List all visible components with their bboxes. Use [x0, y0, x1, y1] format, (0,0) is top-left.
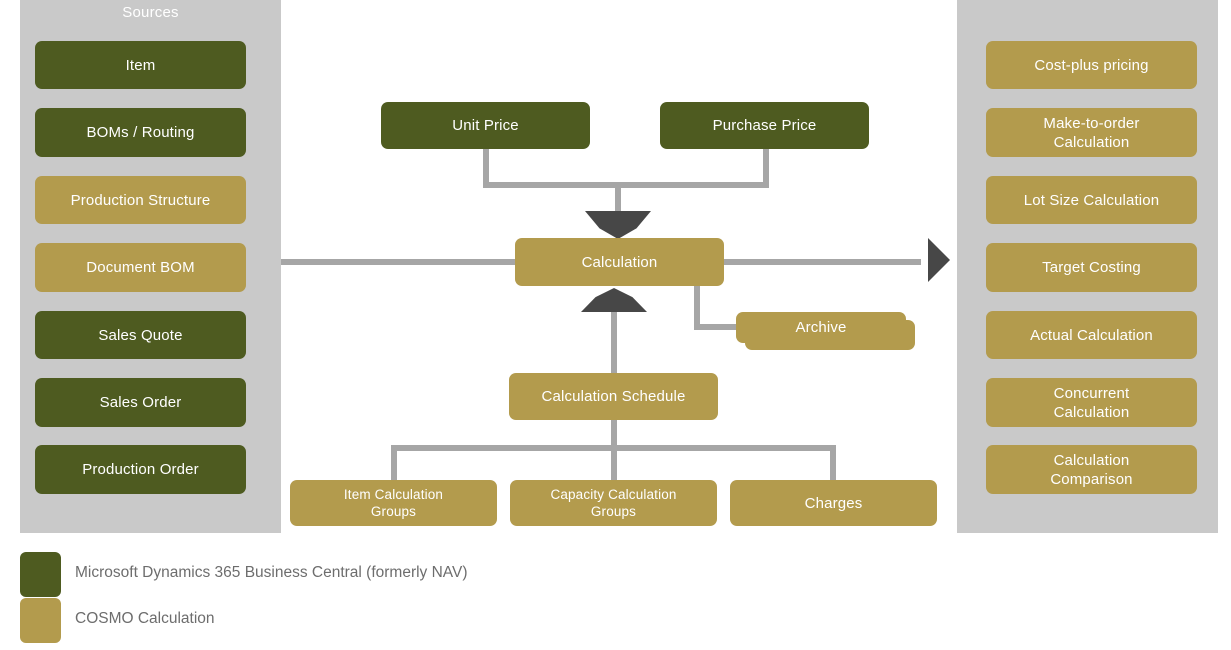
- legend-label-business-central: Microsoft Dynamics 365 Business Central …: [75, 563, 468, 583]
- result-node-actual-calculation[interactable]: Actual Calculation: [986, 311, 1197, 359]
- result-node-target-costing[interactable]: Target Costing: [986, 243, 1197, 292]
- source-node-production-order[interactable]: Production Order: [35, 445, 246, 494]
- result-node-concurrent-calculation[interactable]: Concurrent Calculation: [986, 378, 1197, 427]
- result-node-calculation-comparison[interactable]: Calculation Comparison: [986, 445, 1197, 494]
- center-node-calculation-schedule[interactable]: Calculation Schedule: [509, 373, 718, 420]
- source-node-boms-routing[interactable]: BOMs / Routing: [35, 108, 246, 157]
- center-node-capacity-calculation-groups[interactable]: Capacity Calculation Groups: [510, 480, 717, 526]
- sources-panel-title: Sources: [20, 4, 281, 22]
- center-node-calculation[interactable]: Calculation: [515, 238, 724, 286]
- center-node-archive[interactable]: Archive: [736, 312, 906, 343]
- source-node-sales-order[interactable]: Sales Order: [35, 378, 246, 427]
- connector-price-bus-horizontal: [483, 182, 769, 188]
- connector-bus-to-charges: [830, 445, 836, 481]
- legend-swatch-cosmo-calculation: [20, 598, 61, 643]
- source-node-item[interactable]: Item: [35, 41, 246, 89]
- result-node-cost-plus-pricing[interactable]: Cost-plus pricing: [986, 41, 1197, 89]
- arrow-up-into-calculation-icon: [581, 288, 647, 312]
- connector-bus-to-item-groups: [391, 445, 397, 481]
- legend-swatch-business-central: [20, 552, 61, 597]
- source-node-sales-quote[interactable]: Sales Quote: [35, 311, 246, 359]
- source-node-document-bom[interactable]: Document BOM: [35, 243, 246, 292]
- connector-bus-to-capacity-groups: [611, 445, 617, 481]
- legend-label-cosmo-calculation: COSMO Calculation: [75, 609, 215, 629]
- arrow-down-into-calculation-icon: [585, 211, 651, 239]
- center-node-purchase-price[interactable]: Purchase Price: [660, 102, 869, 149]
- center-node-charges[interactable]: Charges: [730, 480, 937, 526]
- arrow-right-to-results-icon: [928, 238, 950, 282]
- center-node-item-calculation-groups[interactable]: Item Calculation Groups: [290, 480, 497, 526]
- connector-calculation-to-results: [717, 259, 921, 265]
- result-node-lot-size-calculation[interactable]: Lot Size Calculation: [986, 176, 1197, 224]
- source-node-production-structure[interactable]: Production Structure: [35, 176, 246, 224]
- center-node-unit-price[interactable]: Unit Price: [381, 102, 590, 149]
- result-node-make-to-order-calculation[interactable]: Make-to-order Calculation: [986, 108, 1197, 157]
- diagram-canvas: Sources Item BOMs / Routing Production S…: [0, 0, 1231, 650]
